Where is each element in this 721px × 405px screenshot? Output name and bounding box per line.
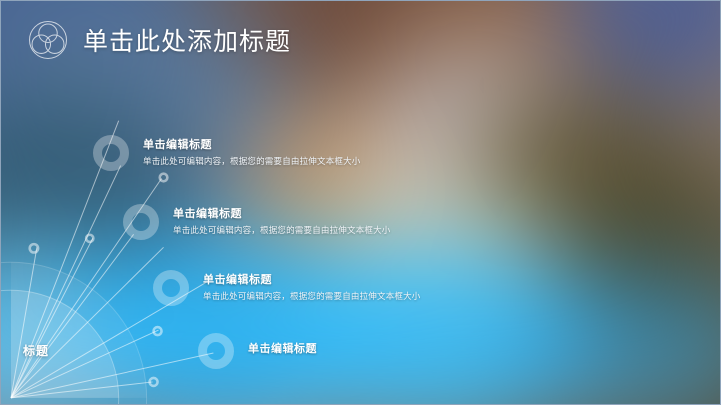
content-item-body[interactable]: 单击此处可编辑内容，根据您的需要自由拉伸文本框大小 (203, 290, 421, 303)
content-item[interactable]: 单击编辑标题 单击此处可编辑内容，根据您的需要自由拉伸文本框大小 (153, 270, 421, 306)
bg-blob-pale-gray (361, 51, 591, 231)
content-item-body[interactable]: 单击此处可编辑内容，根据您的需要自由拉伸文本框大小 (173, 224, 391, 237)
content-item-text: 单击编辑标题 单击此处可编辑内容，根据您的需要自由拉伸文本框大小 (143, 138, 361, 168)
corner-arc-outer (1, 262, 147, 405)
fan-ray (11, 247, 37, 398)
content-item-heading[interactable]: 单击编辑标题 (143, 138, 361, 153)
fan-ray (11, 247, 164, 398)
bg-blob-sand (241, 91, 541, 281)
content-item[interactable]: 单击编辑标题 单击此处可编辑内容，根据您的需要自由拉伸文本框大小 (123, 204, 391, 240)
fan-ray (11, 382, 153, 398)
bg-blob-brown-dark (271, 0, 601, 131)
corner-label[interactable]: 标题 (23, 342, 49, 359)
bg-blob-tan (371, 0, 691, 171)
fan-ray (11, 234, 134, 398)
content-item-text: 单击编辑标题 (248, 342, 317, 359)
fan-dot-icon (160, 174, 168, 182)
fan-dot-icon (150, 378, 158, 386)
content-item-body[interactable]: 单击此处可编辑内容，根据您的需要自由拉伸文本框大小 (143, 155, 361, 168)
donut-ring-icon (198, 333, 234, 369)
content-item[interactable]: 单击编辑标题 (198, 333, 317, 369)
page-title[interactable]: 单击此处添加标题 (83, 22, 291, 58)
content-item-heading[interactable]: 单击编辑标题 (203, 273, 421, 288)
bg-blob-cyan-left (0, 241, 161, 405)
fan-dot-icon (154, 327, 162, 335)
content-item-text: 单击编辑标题 单击此处可编辑内容，根据您的需要自由拉伸文本框大小 (173, 207, 391, 237)
fan-ray (11, 353, 213, 398)
corner-sector-outer (11, 262, 147, 398)
content-item-text: 单击编辑标题 单击此处可编辑内容，根据您的需要自由拉伸文本框大小 (203, 273, 421, 303)
fan-ray (11, 166, 121, 398)
fan-ray (11, 330, 159, 398)
bg-blob-olive-dark (541, 171, 721, 371)
bg-blob-cyan-faded (501, 271, 721, 405)
donut-ring-icon (153, 270, 189, 306)
donut-ring-icon (123, 204, 159, 240)
bg-blob-olive (461, 91, 721, 311)
radial-fan-decoration (1, 1, 720, 405)
corner-arc-inner (1, 290, 119, 405)
content-item[interactable]: 单击编辑标题 单击此处可编辑内容，根据您的需要自由拉伸文本框大小 (93, 135, 361, 171)
bg-blob-cyan (61, 231, 401, 405)
content-item-heading[interactable]: 单击编辑标题 (248, 342, 317, 357)
content-item-heading[interactable]: 单击编辑标题 (173, 207, 391, 222)
bg-blob-violet-topright (561, 0, 721, 101)
triquetra-circles-logo-icon (27, 19, 69, 61)
bg-blob-cyan-right (271, 241, 601, 405)
presentation-slide: 单击此处添加标题 单击编辑标题 单击此处可编辑内容，根据您的需要自由拉伸文本框大… (0, 0, 721, 405)
fan-ray (11, 238, 93, 398)
donut-ring-icon (93, 135, 129, 171)
fan-dot-icon (86, 235, 93, 242)
fan-dot-icon (30, 244, 38, 252)
slide-title-row: 单击此处添加标题 (27, 19, 291, 61)
